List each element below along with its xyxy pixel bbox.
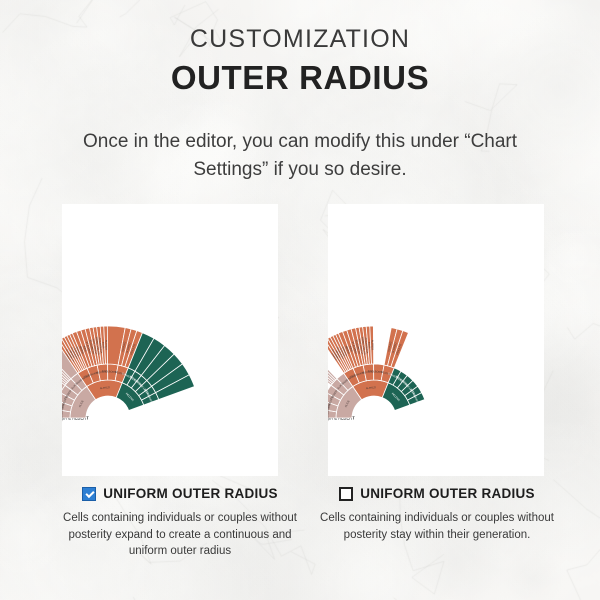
- checkbox-uniform-outer-radius-checked[interactable]: [82, 487, 96, 501]
- fan-chart-uniform: RIA & ALBERTALICEELIZABETHVICTORIAVICTOR…: [62, 204, 278, 476]
- subtitle-text: Once in the editor, you can modify this …: [60, 128, 540, 183]
- caption-label: UNIFORM OUTER RADIUS: [360, 486, 535, 501]
- svg-text:ALFRED: ALFRED: [370, 340, 374, 350]
- header-block: CUSTOMIZATION OUTER RADIUS: [0, 26, 600, 96]
- kicker-text: CUSTOMIZATION: [0, 26, 600, 54]
- checkbox-uniform-outer-radius-unchecked[interactable]: [339, 487, 353, 501]
- chart-panel-nonuniform: RIA & ALBERTALICEELIZABETHVICTORIAVICTOR…: [328, 204, 544, 476]
- caption-description: Cells containing individuals or couples …: [312, 510, 562, 543]
- caption-uniform: UNIFORM OUTER RADIUS Cells containing in…: [55, 486, 305, 560]
- caption-nonuniform: UNIFORM OUTER RADIUS Cells containing in…: [312, 486, 562, 543]
- chart-panel-uniform: RIA & ALBERTALICEELIZABETHVICTORIAVICTOR…: [62, 204, 278, 476]
- page-title: OUTER RADIUS: [0, 59, 600, 97]
- fan-chart-nonuniform: RIA & ALBERTALICEELIZABETHVICTORIAVICTOR…: [328, 204, 544, 476]
- caption-description: Cells containing individuals or couples …: [55, 510, 305, 560]
- caption-label: UNIFORM OUTER RADIUS: [103, 486, 278, 501]
